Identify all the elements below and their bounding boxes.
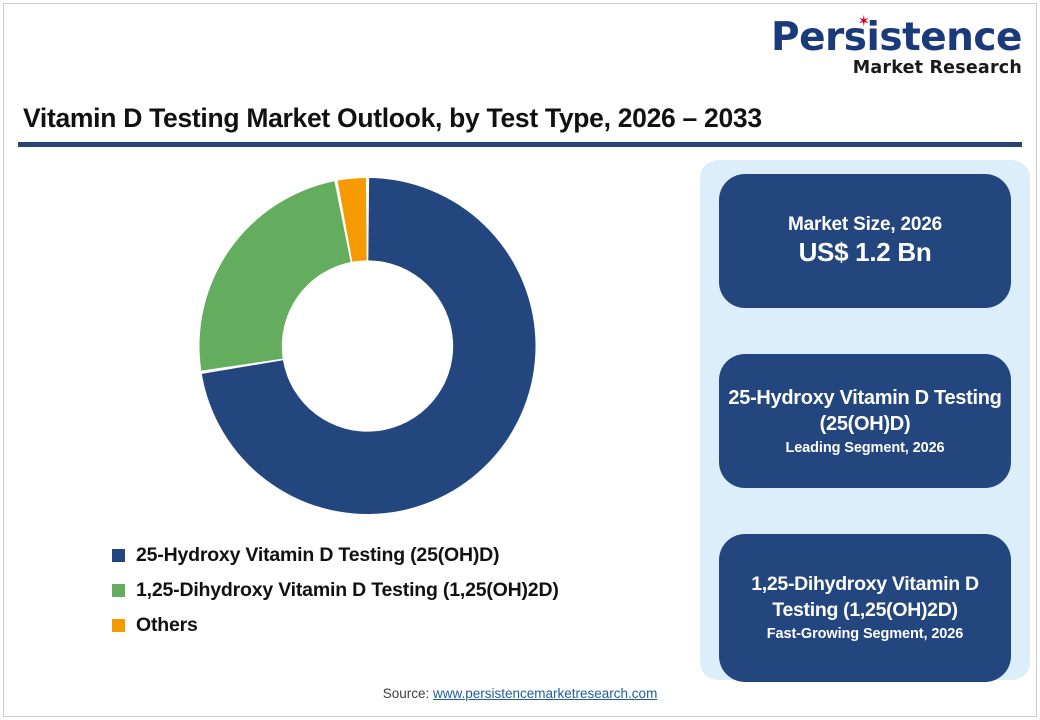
donut-chart: [0, 155, 690, 555]
donut-slice[interactable]: [200, 181, 351, 370]
market-size-value: US$ 1.2 Bn: [799, 237, 932, 269]
logo-subtitle: Market Research: [771, 60, 1022, 78]
fast-growing-segment-caption: Fast-Growing Segment, 2026: [767, 626, 963, 643]
source-link[interactable]: www.persistencemarketresearch.com: [433, 686, 657, 701]
title-divider: [18, 142, 1022, 147]
fast-growing-segment-card[interactable]: 1,25-Dihydroxy Vitamin D Testing (1,25(O…: [719, 534, 1011, 682]
leading-segment-name: 25-Hydroxy Vitamin D Testing (25(OH)D): [719, 385, 1011, 437]
leading-segment-card[interactable]: 25-Hydroxy Vitamin D Testing (25(OH)D) L…: [719, 354, 1011, 488]
donut-slice-group: [200, 178, 536, 514]
legend-label-1-25-dihydroxy: 1,25-Dihydroxy Vitamin D Testing (1,25(O…: [136, 579, 559, 602]
legend-item-25-hydroxy[interactable]: 25-Hydroxy Vitamin D Testing (25(OH)D): [112, 538, 559, 573]
legend-label-others: Others: [136, 614, 198, 637]
legend-swatch-25-hydroxy: [112, 549, 125, 562]
legend-swatch-1-25-dihydroxy: [112, 584, 125, 597]
donut-chart-svg: [0, 155, 690, 555]
legend-item-1-25-dihydroxy[interactable]: 1,25-Dihydroxy Vitamin D Testing (1,25(O…: [112, 573, 559, 608]
legend-item-others[interactable]: Others: [112, 608, 559, 643]
chart-legend: 25-Hydroxy Vitamin D Testing (25(OH)D) 1…: [112, 538, 559, 643]
page-title: Vitamin D Testing Market Outlook, by Tes…: [23, 103, 762, 134]
source-line: Source: www.persistencemarketresearch.co…: [0, 686, 1040, 701]
source-label: Source:: [383, 686, 430, 701]
highlights-panel: Market Size, 2026 US$ 1.2 Bn 25-Hydroxy …: [700, 160, 1030, 680]
logo-wordmark-text: Persistence: [771, 15, 1022, 60]
fast-growing-segment-name: 1,25-Dihydroxy Vitamin D Testing (1,25(O…: [719, 572, 1011, 623]
market-size-label: Market Size, 2026: [788, 213, 942, 237]
logo-wordmark: Persistence ✶: [771, 18, 1022, 57]
company-logo: Persistence ✶ Market Research: [771, 18, 1022, 78]
legend-swatch-others: [112, 619, 125, 632]
market-size-card[interactable]: Market Size, 2026 US$ 1.2 Bn: [719, 174, 1011, 308]
infographic-page: Persistence ✶ Market Research Vitamin D …: [0, 0, 1040, 720]
leading-segment-caption: Leading Segment, 2026: [785, 440, 944, 457]
legend-label-25-hydroxy: 25-Hydroxy Vitamin D Testing (25(OH)D): [136, 544, 499, 567]
logo-star-icon: ✶: [857, 15, 870, 28]
